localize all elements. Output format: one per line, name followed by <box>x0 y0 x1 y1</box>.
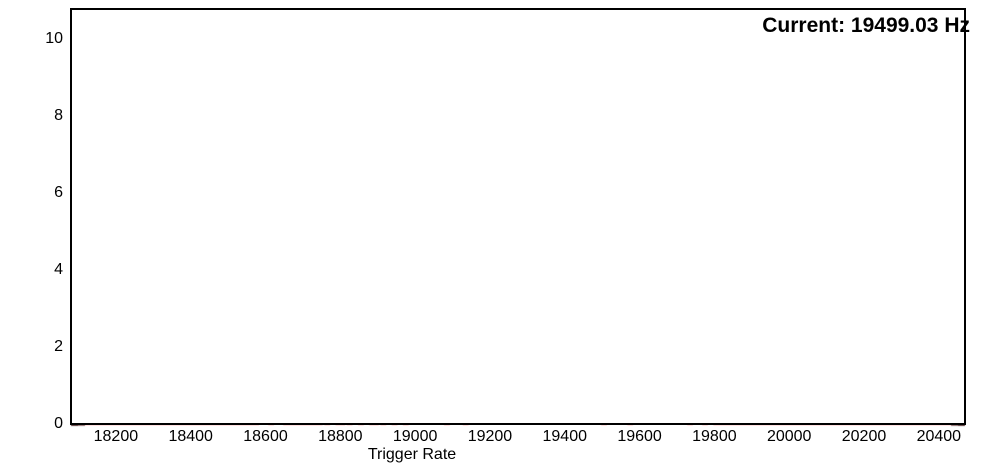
x-tick-label: 18800 <box>318 428 363 446</box>
current-rate-label: Current: 19499.03 Hz <box>762 14 970 38</box>
x-tick-label: 19000 <box>393 428 438 446</box>
y-tick-label: 10 <box>45 30 63 48</box>
histogram-page: Current: 19499.03 Hz Trigger Rate 182001… <box>0 0 996 472</box>
y-tick-label: 2 <box>54 338 63 356</box>
x-tick-label: 19200 <box>468 428 513 446</box>
x-tick-label: 20000 <box>767 428 812 446</box>
x-tick-label: 19600 <box>617 428 662 446</box>
x-tick-label: 18400 <box>168 428 213 446</box>
y-tick-label: 6 <box>54 184 63 202</box>
x-tick-label: 20400 <box>917 428 962 446</box>
plot-frame <box>70 8 966 425</box>
x-tick-label: 20200 <box>842 428 887 446</box>
x-tick-label: 18600 <box>243 428 288 446</box>
y-tick-label: 0 <box>54 415 63 433</box>
y-tick-label: 4 <box>54 261 63 279</box>
x-tick-label: 19800 <box>692 428 737 446</box>
x-axis-title: Trigger Rate <box>0 446 910 464</box>
x-tick-label: 18200 <box>94 428 139 446</box>
x-tick-label: 19400 <box>543 428 588 446</box>
y-tick-label: 8 <box>54 107 63 125</box>
